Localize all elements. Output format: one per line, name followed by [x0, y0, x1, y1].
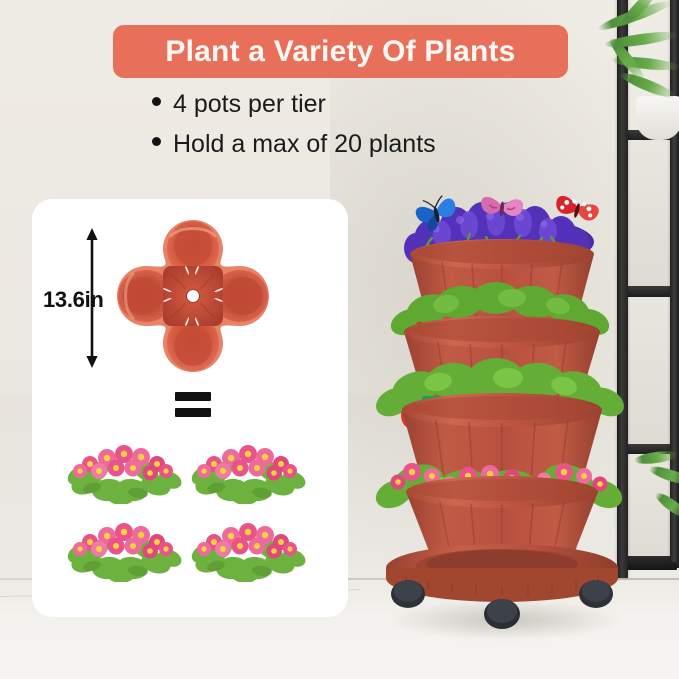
banner-title: Plant a Variety Of Plants [165, 35, 515, 69]
infographic-canvas: Plant a Variety Of Plants 4 pots per tie… [0, 0, 679, 679]
bullet-text: Hold a max of 20 plants [173, 130, 436, 159]
bullet-dot-icon [152, 97, 161, 106]
planter-top-view [113, 216, 273, 376]
feature-bullet-list: 4 pots per tier Hold a max of 20 plants [152, 90, 572, 170]
dimension-label: 13.6in [43, 287, 104, 313]
flower-cluster [190, 438, 308, 504]
shelf-panel [628, 140, 670, 286]
list-item: 4 pots per tier [152, 90, 572, 119]
flower-cluster [190, 516, 308, 582]
title-banner: Plant a Variety Of Plants [113, 25, 568, 78]
flower-cluster [66, 438, 184, 504]
shelf-panel [628, 297, 670, 444]
stacked-planter-tower [372, 182, 632, 652]
flower-cluster [66, 516, 184, 582]
flower-cluster-grid [66, 438, 316, 584]
fern-pot [636, 96, 679, 140]
wheeled-base-caddy [386, 544, 618, 629]
list-item: Hold a max of 20 plants [152, 130, 572, 159]
equals-sign [175, 392, 211, 418]
bullet-dot-icon [152, 137, 161, 146]
bullet-text: 4 pots per tier [173, 90, 326, 119]
equals-bar [175, 408, 211, 417]
equals-bar [175, 392, 211, 401]
